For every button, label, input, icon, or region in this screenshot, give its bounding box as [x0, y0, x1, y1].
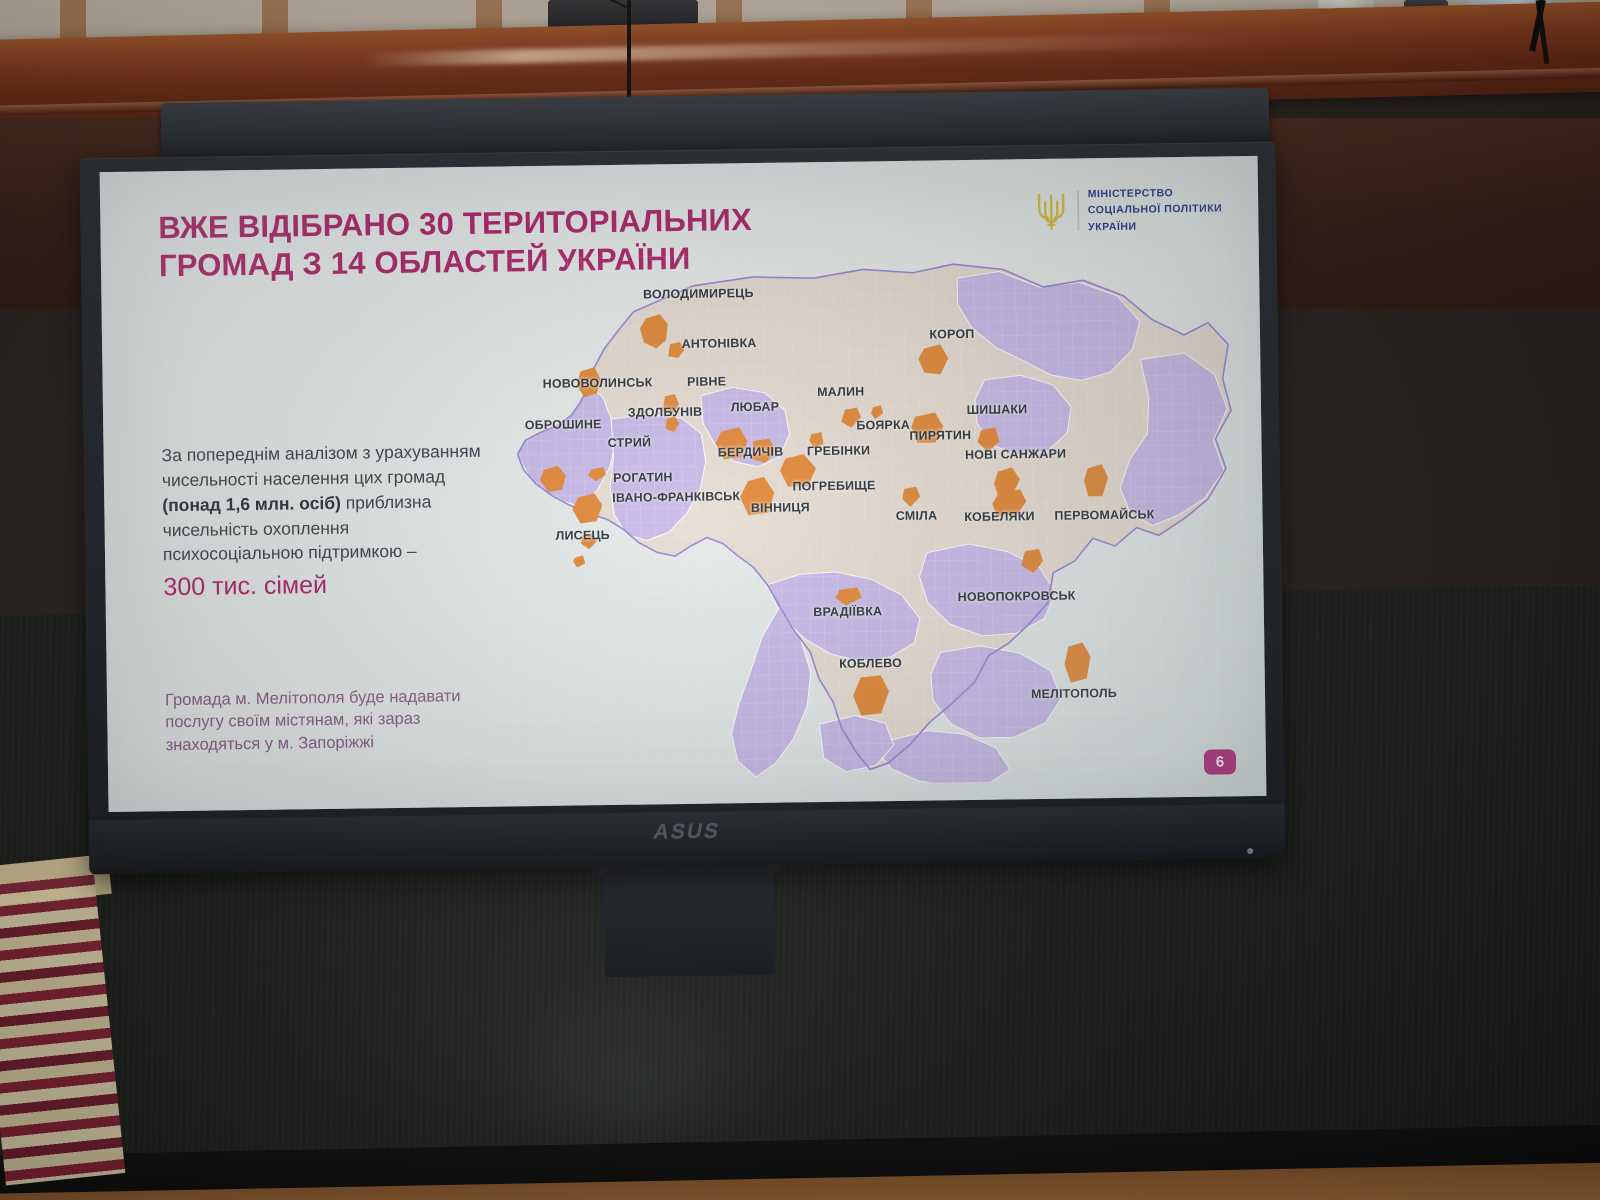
- map-city-label: ІВАНО-ФРАНКІВСЬК: [612, 489, 740, 505]
- asus-brand-logo: ASUS: [651, 819, 722, 844]
- presentation-slide: ВЖЕ ВІДІБРАНО 30 ТЕРИТОРІАЛЬНИХ ГРОМАД З…: [100, 156, 1267, 812]
- map-city-label: СМІЛА: [896, 508, 938, 523]
- analysis-paragraph: За попереднім аналізом з урахуванням чис…: [161, 439, 493, 568]
- map-city-label: КОБЛЕВО: [839, 656, 902, 671]
- ministry-logo: МІНІСТЕРСТВО СОЦІАЛЬНОЇ ПОЛІТИКИ УКРАЇНИ: [1034, 184, 1223, 235]
- map-city-label: АНТОНІВКА: [682, 336, 757, 351]
- map-city-label: РОГАТИН: [613, 470, 673, 485]
- map-city-label: КОБЕЛЯКИ: [964, 509, 1035, 524]
- logo-line-1: МІНІСТЕРСТВО: [1088, 184, 1223, 202]
- paragraph-part-1: За попереднім аналізом з урахуванням чис…: [161, 441, 480, 490]
- page-number-badge: 6: [1204, 749, 1236, 774]
- power-led-indicator[interactable]: [1247, 848, 1253, 854]
- monitor-bezel: ВЖЕ ВІДІБРАНО 30 ТЕРИТОРІАЛЬНИХ ГРОМАД З…: [79, 142, 1285, 875]
- map-city-label: ВІННИЦЯ: [751, 500, 810, 515]
- map-city-label: ПЕРВОМАЙСЬК: [1054, 507, 1154, 522]
- highlight-figure: 300 тис. сімей: [163, 567, 493, 604]
- map-city-label: БЕРДИЧІВ: [718, 445, 784, 460]
- map-city-label: ОБРОШИНЕ: [525, 417, 602, 432]
- melitopol-note: Громада м. Мелітополя буде надавати посл…: [165, 684, 511, 756]
- map-city-label: ВОЛОДИМИРЕЦЬ: [643, 286, 754, 302]
- map-city-label: НОВОПОКРОВСЬК: [958, 589, 1076, 605]
- map-city-label: НОВІ САНЖАРИ: [965, 447, 1066, 462]
- map-city-label: СТРИЙ: [608, 435, 652, 450]
- map-city-label: ЛИСЕЦЬ: [556, 528, 610, 543]
- map-city-label: КОРОП: [929, 327, 974, 342]
- map-city-label: ЗДОЛБУНІВ: [628, 405, 703, 420]
- map-city-label: РІВНЕ: [687, 374, 726, 389]
- ministry-logo-text: МІНІСТЕРСТВО СОЦІАЛЬНОЇ ПОЛІТИКИ УКРАЇНИ: [1088, 184, 1223, 235]
- map-city-label: НОВОВОЛИНСЬК: [543, 375, 653, 391]
- map-city-label: ЛЮБАР: [731, 400, 780, 415]
- monitor: ВЖЕ ВІДІБРАНО 30 ТЕРИТОРІАЛЬНИХ ГРОМАД З…: [73, 88, 1292, 875]
- room-scene: ВЖЕ ВІДІБРАНО 30 ТЕРИТОРІАЛЬНИХ ГРОМАД З…: [0, 0, 1600, 1200]
- ukraine-map: ВОЛОДИМИРЕЦЬАНТОНІВКАКОРОПНОВОВОЛИНСЬКРІ…: [483, 248, 1250, 789]
- map-city-label: ГРЕБІНКИ: [807, 443, 871, 458]
- map-city-label: МЕЛІТОПОЛЬ: [1031, 686, 1117, 701]
- map-city-label: ВРАДІЇВКА: [813, 604, 882, 619]
- paragraph-bold: (понад 1,6 млн. осіб): [162, 492, 341, 514]
- logo-line-3: УКРАЇНИ: [1088, 217, 1223, 235]
- monitor-screen: ВЖЕ ВІДІБРАНО 30 ТЕРИТОРІАЛЬНИХ ГРОМАД З…: [100, 156, 1267, 812]
- monitor-stand-neck: [603, 855, 775, 977]
- map-city-label: МАЛИН: [817, 384, 864, 399]
- map-city-label: БОЯРКА: [856, 418, 910, 433]
- logo-divider: [1077, 191, 1080, 231]
- left-text-column: За попереднім аналізом з урахуванням чис…: [161, 439, 493, 604]
- ukraine-trident-icon: [1034, 189, 1069, 233]
- map-city-label: ПОГРЕБИЩЕ: [792, 478, 875, 493]
- map-city-label: ШИШАКИ: [967, 402, 1028, 417]
- logo-line-2: СОЦІАЛЬНОЇ ПОЛІТИКИ: [1088, 201, 1223, 219]
- map-city-label: ПИРЯТИН: [909, 428, 971, 443]
